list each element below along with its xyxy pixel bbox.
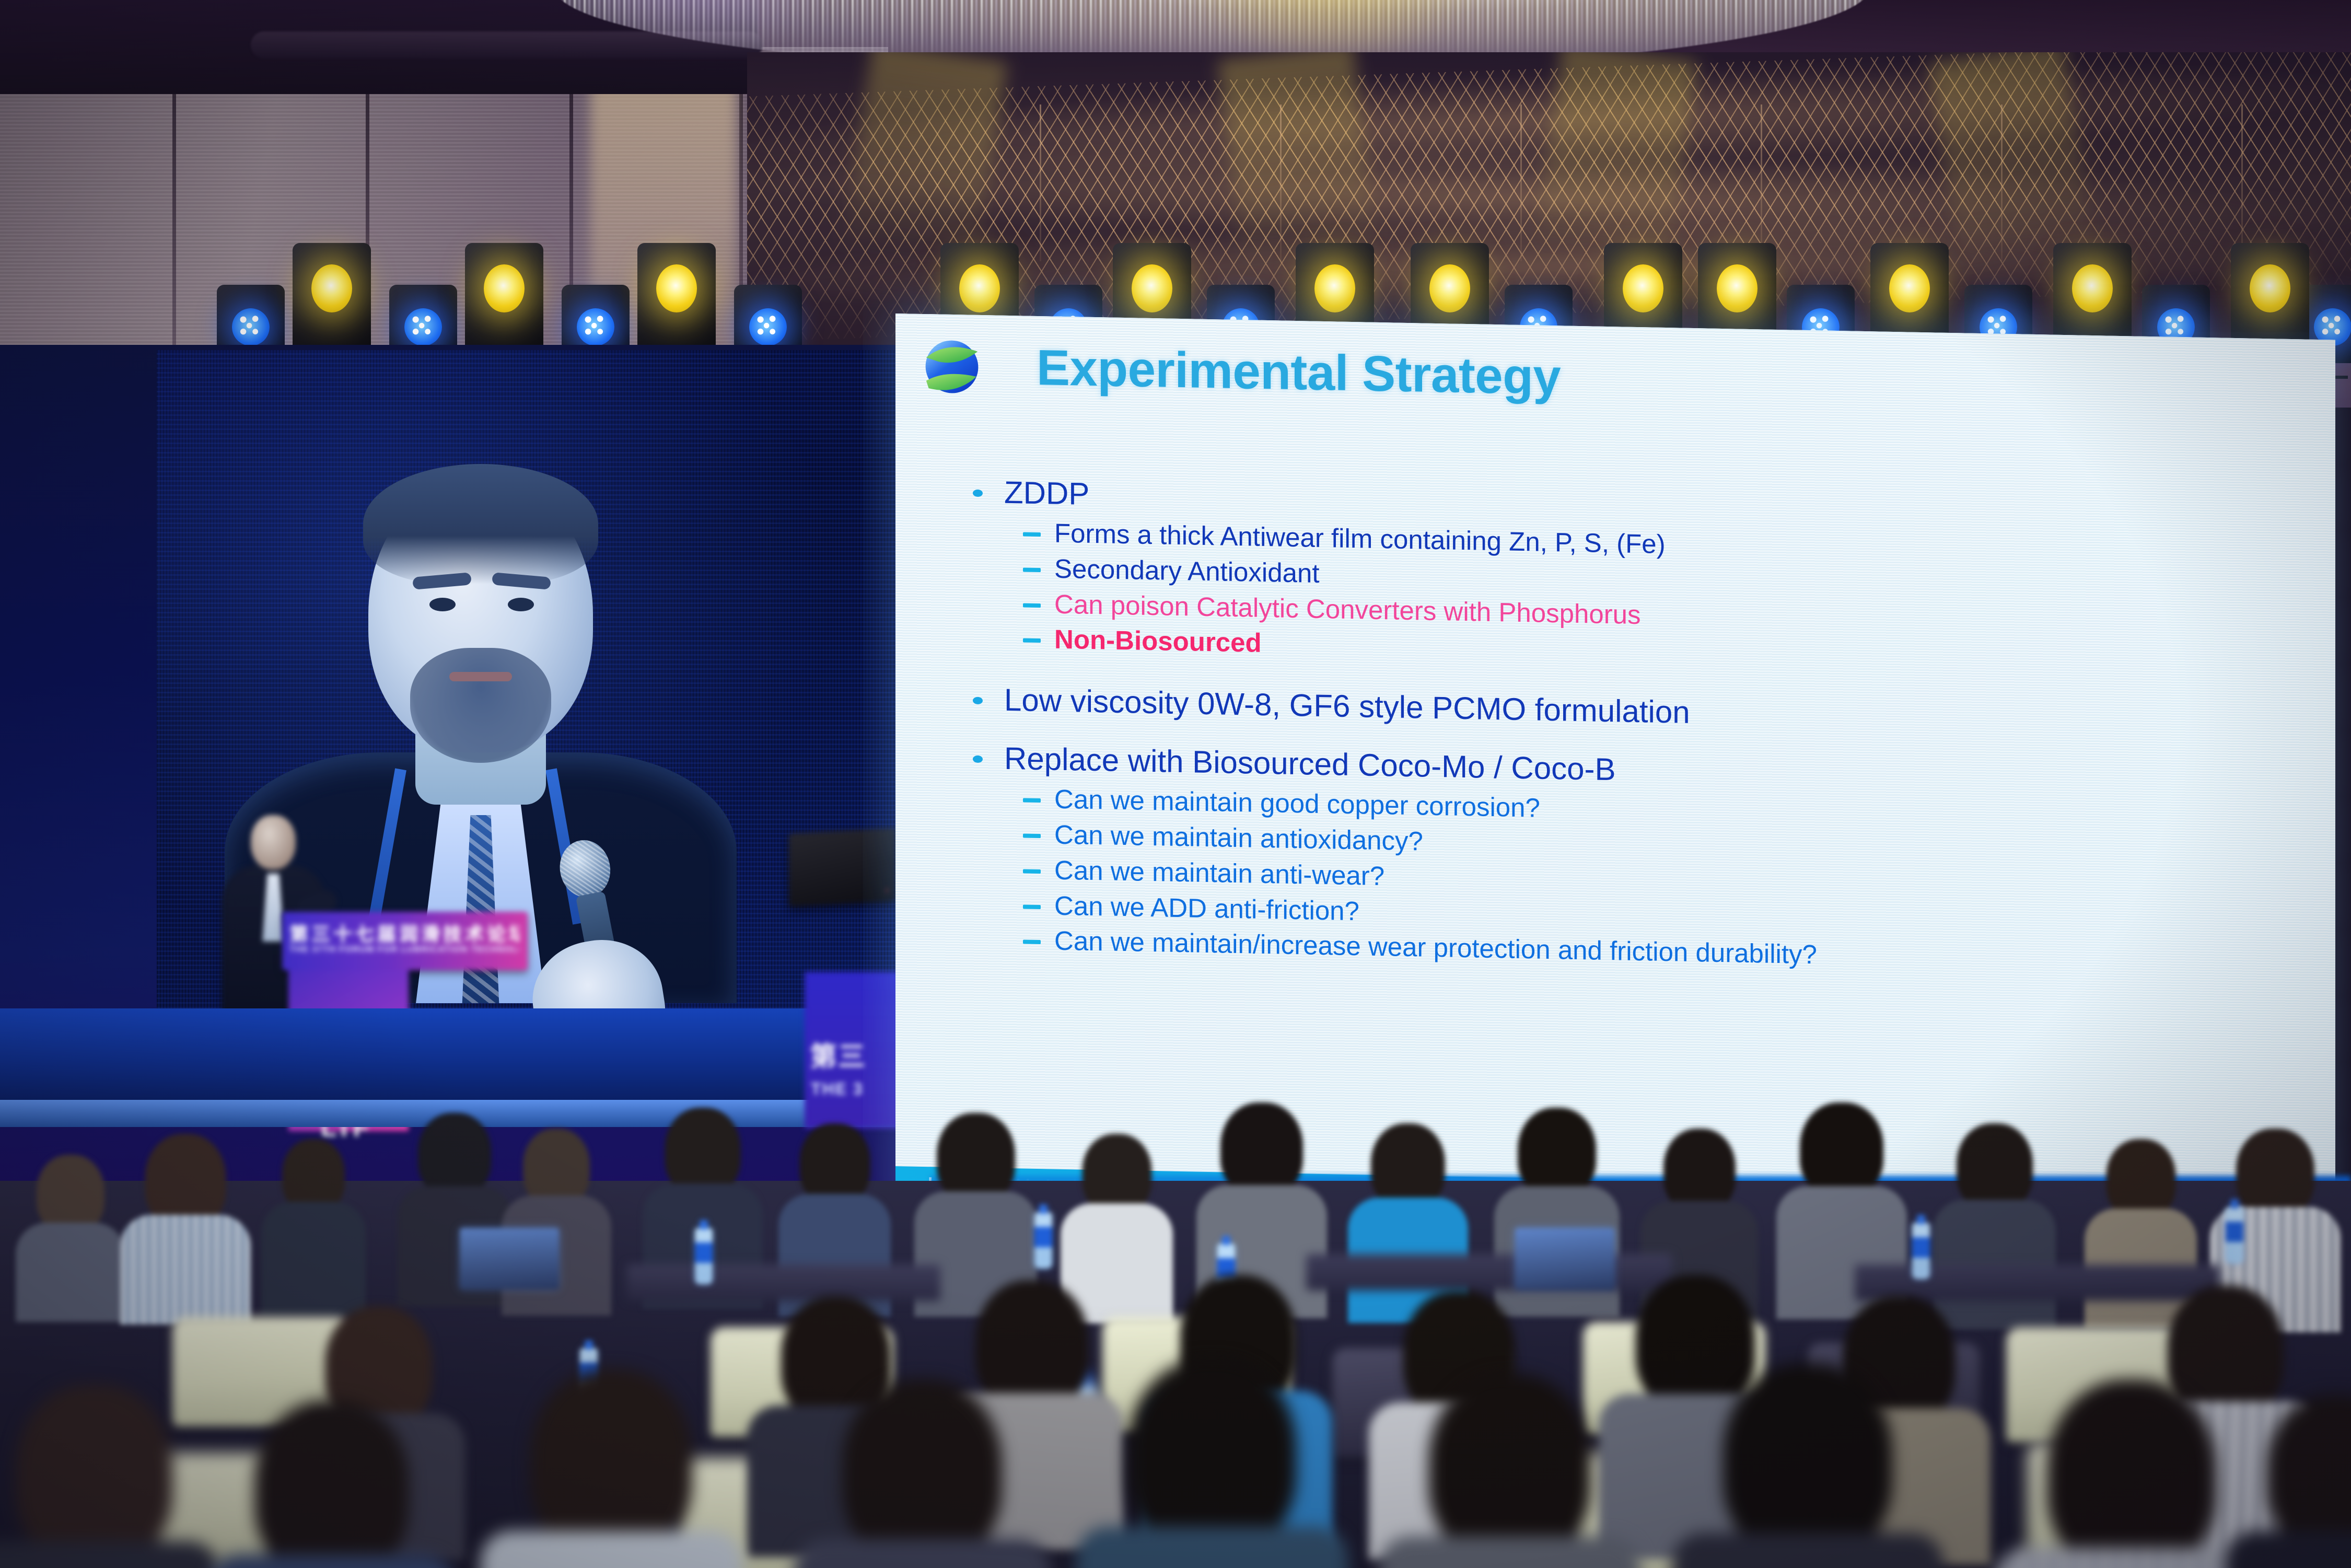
ltf-globe-logo-icon xyxy=(921,335,983,399)
slide-title: Experimental Strategy xyxy=(1037,339,1561,406)
audience-member xyxy=(1379,1374,1640,1568)
conference-hall-scene: 第三十七届润滑技术论坛 THE 37TH FORUM FOR LUBRICATI… xyxy=(0,0,2351,1568)
slide-bullet-list: ZDDP Forms a thick Antiwear film contain… xyxy=(946,471,2320,982)
audience-member xyxy=(261,1139,366,1311)
chandelier-cool-glow xyxy=(554,0,846,57)
audience-member xyxy=(0,1385,219,1568)
audience-area xyxy=(0,982,2351,1568)
audience-member xyxy=(2226,1395,2351,1568)
podium-banner: 第三十七届润滑技术论坛 THE 37TH FORUM FOR LUBRICATI… xyxy=(282,912,528,970)
podium-banner-en: THE 37TH FORUM FOR LUBRICATION TECHNOLOG… xyxy=(289,944,519,955)
laptop-icon xyxy=(460,1228,559,1290)
audience-member xyxy=(16,1155,125,1311)
water-bottle-icon xyxy=(695,1228,713,1284)
audience-member xyxy=(120,1134,251,1317)
audience-member xyxy=(209,1400,455,1568)
water-bottle-icon xyxy=(1034,1212,1052,1269)
laptop-icon: • xyxy=(789,828,896,907)
audience-member xyxy=(481,1369,742,1568)
podium-banner-cn: 第三十七届润滑技术论坛 xyxy=(289,919,519,946)
audience-member xyxy=(1076,1358,1348,1568)
laptop-brand-mark: • xyxy=(886,886,889,895)
water-bottle-icon xyxy=(1912,1223,1930,1279)
audience-member xyxy=(794,1379,1050,1568)
audience-member xyxy=(1672,1364,1943,1568)
water-bottle-icon xyxy=(2226,1207,2243,1263)
